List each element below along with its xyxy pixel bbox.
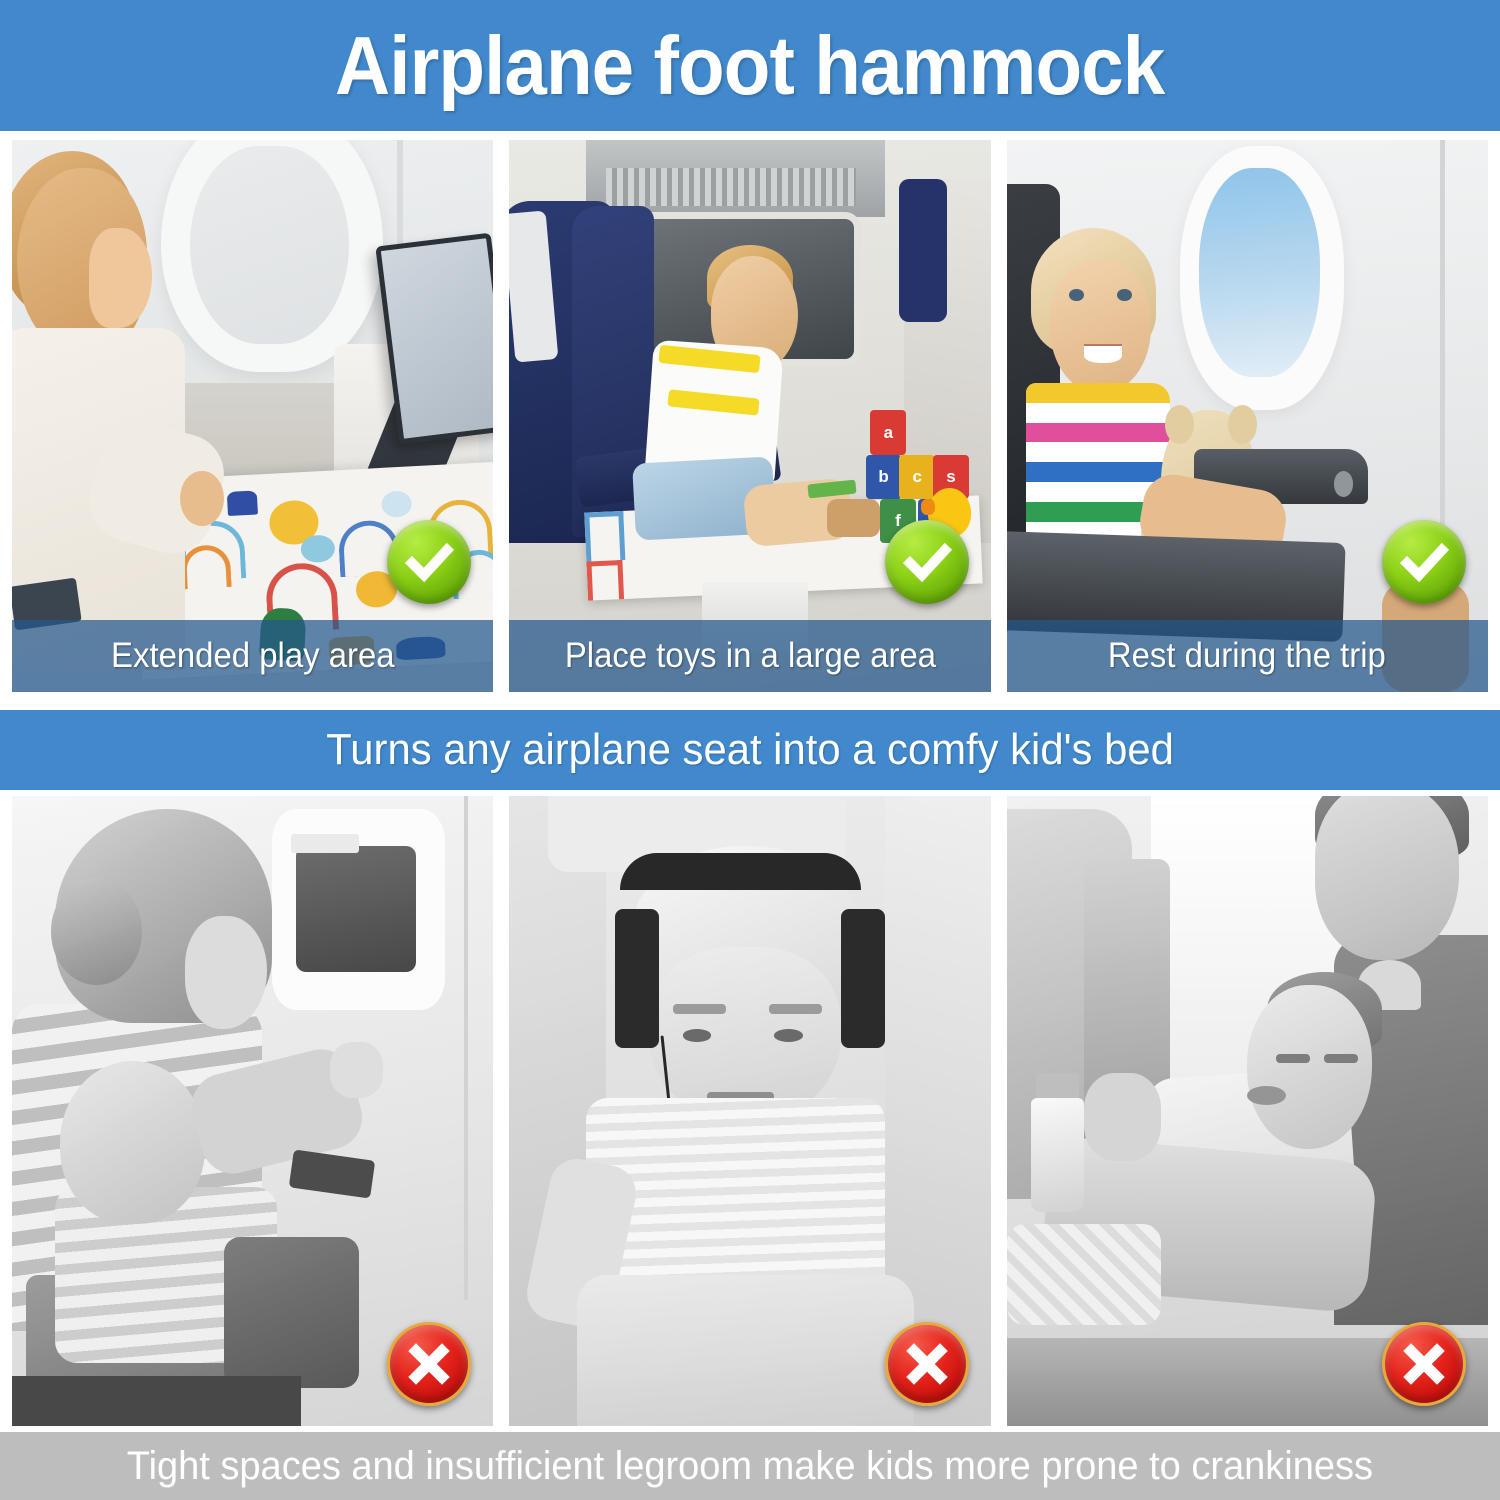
headphone-earcup-right (841, 909, 884, 1048)
window-shade-handle (291, 834, 358, 853)
father-hand (1084, 1073, 1161, 1161)
seat-right-cushion (899, 179, 947, 323)
benefit-panel-rest-during-trip[interactable]: Rest during the trip (1007, 140, 1488, 692)
cross-icon (387, 1322, 471, 1406)
cabin-wall-seam (464, 796, 468, 1300)
problems-row (12, 796, 1488, 1426)
benefit-panel-place-toys[interactable]: a b c s f t Place toys in a large area (509, 140, 990, 692)
duck-beak (921, 499, 935, 516)
check-icon (387, 520, 471, 604)
father-face (1315, 796, 1459, 960)
mother-hair-bun (51, 878, 142, 985)
check-icon (885, 520, 969, 604)
headphone-earcup-left (615, 909, 658, 1048)
child-hand (180, 471, 223, 526)
page-title: Airplane foot hammock (335, 18, 1164, 114)
problem-statement-banner: Tight spaces and insufficient legroom ma… (0, 1432, 1500, 1500)
cabin-floor (12, 1376, 301, 1426)
child-lap (577, 1275, 914, 1426)
panel-caption: Rest during the trip (1007, 620, 1488, 692)
window-glass (296, 846, 416, 972)
air-vent (606, 168, 856, 207)
headphones-band (620, 853, 861, 891)
baby-bottle (1031, 1098, 1084, 1211)
panel-caption-text: Rest during the trip (1108, 636, 1386, 676)
baby-head-crying (1247, 985, 1372, 1149)
toy-block: c (899, 455, 935, 499)
baby-head (60, 1061, 204, 1225)
seat-remote-control (289, 1150, 375, 1199)
problem-panel-mother-and-baby[interactable] (12, 796, 493, 1426)
photo-baby-with-toys: a b c s f t (509, 140, 990, 692)
panel-caption-text: Extended play area (111, 636, 395, 676)
benefit-panel-extended-play[interactable]: Extended play area (12, 140, 493, 692)
baby-crying-mouth (1247, 1086, 1286, 1105)
cabin-wall-seam (1440, 140, 1445, 560)
child-face (1050, 261, 1151, 393)
tagline-text: Turns any airplane seat into a comfy kid… (326, 725, 1174, 775)
wooden-toy (827, 499, 880, 538)
infographic-page: Airplane foot hammock (0, 0, 1500, 1500)
problem-statement-text: Tight spaces and insufficient legroom ma… (127, 1444, 1373, 1489)
armrest-button (1334, 471, 1353, 496)
problem-panel-father-crying-baby[interactable] (1007, 796, 1488, 1426)
panel-caption: Extended play area (12, 620, 493, 692)
header-banner: Airplane foot hammock (0, 0, 1500, 131)
cross-icon (1382, 1322, 1466, 1406)
baby-sleeve-star-print (1007, 1224, 1161, 1325)
problem-panel-toddler-headphones[interactable] (509, 796, 990, 1426)
child-smile (1084, 344, 1123, 363)
baby-hand (330, 1042, 383, 1099)
tagline-banner: Turns any airplane seat into a comfy kid… (0, 710, 1500, 790)
cross-icon (885, 1322, 969, 1406)
benefits-row: Extended play area (12, 140, 1488, 692)
panel-caption-text: Place toys in a large area (564, 636, 935, 676)
toy-block: b (866, 455, 902, 499)
check-icon (1382, 520, 1466, 604)
panel-caption: Place toys in a large area (509, 620, 990, 692)
window-glass (190, 146, 349, 345)
photo-toddler-with-teddy (1007, 140, 1488, 692)
photo-toddler-with-tablet (12, 140, 493, 692)
mother-face (185, 916, 267, 1029)
child-face (89, 228, 152, 327)
toy-block: a (870, 410, 906, 454)
window-sky-view (1199, 168, 1319, 378)
baby-pants (224, 1237, 359, 1388)
